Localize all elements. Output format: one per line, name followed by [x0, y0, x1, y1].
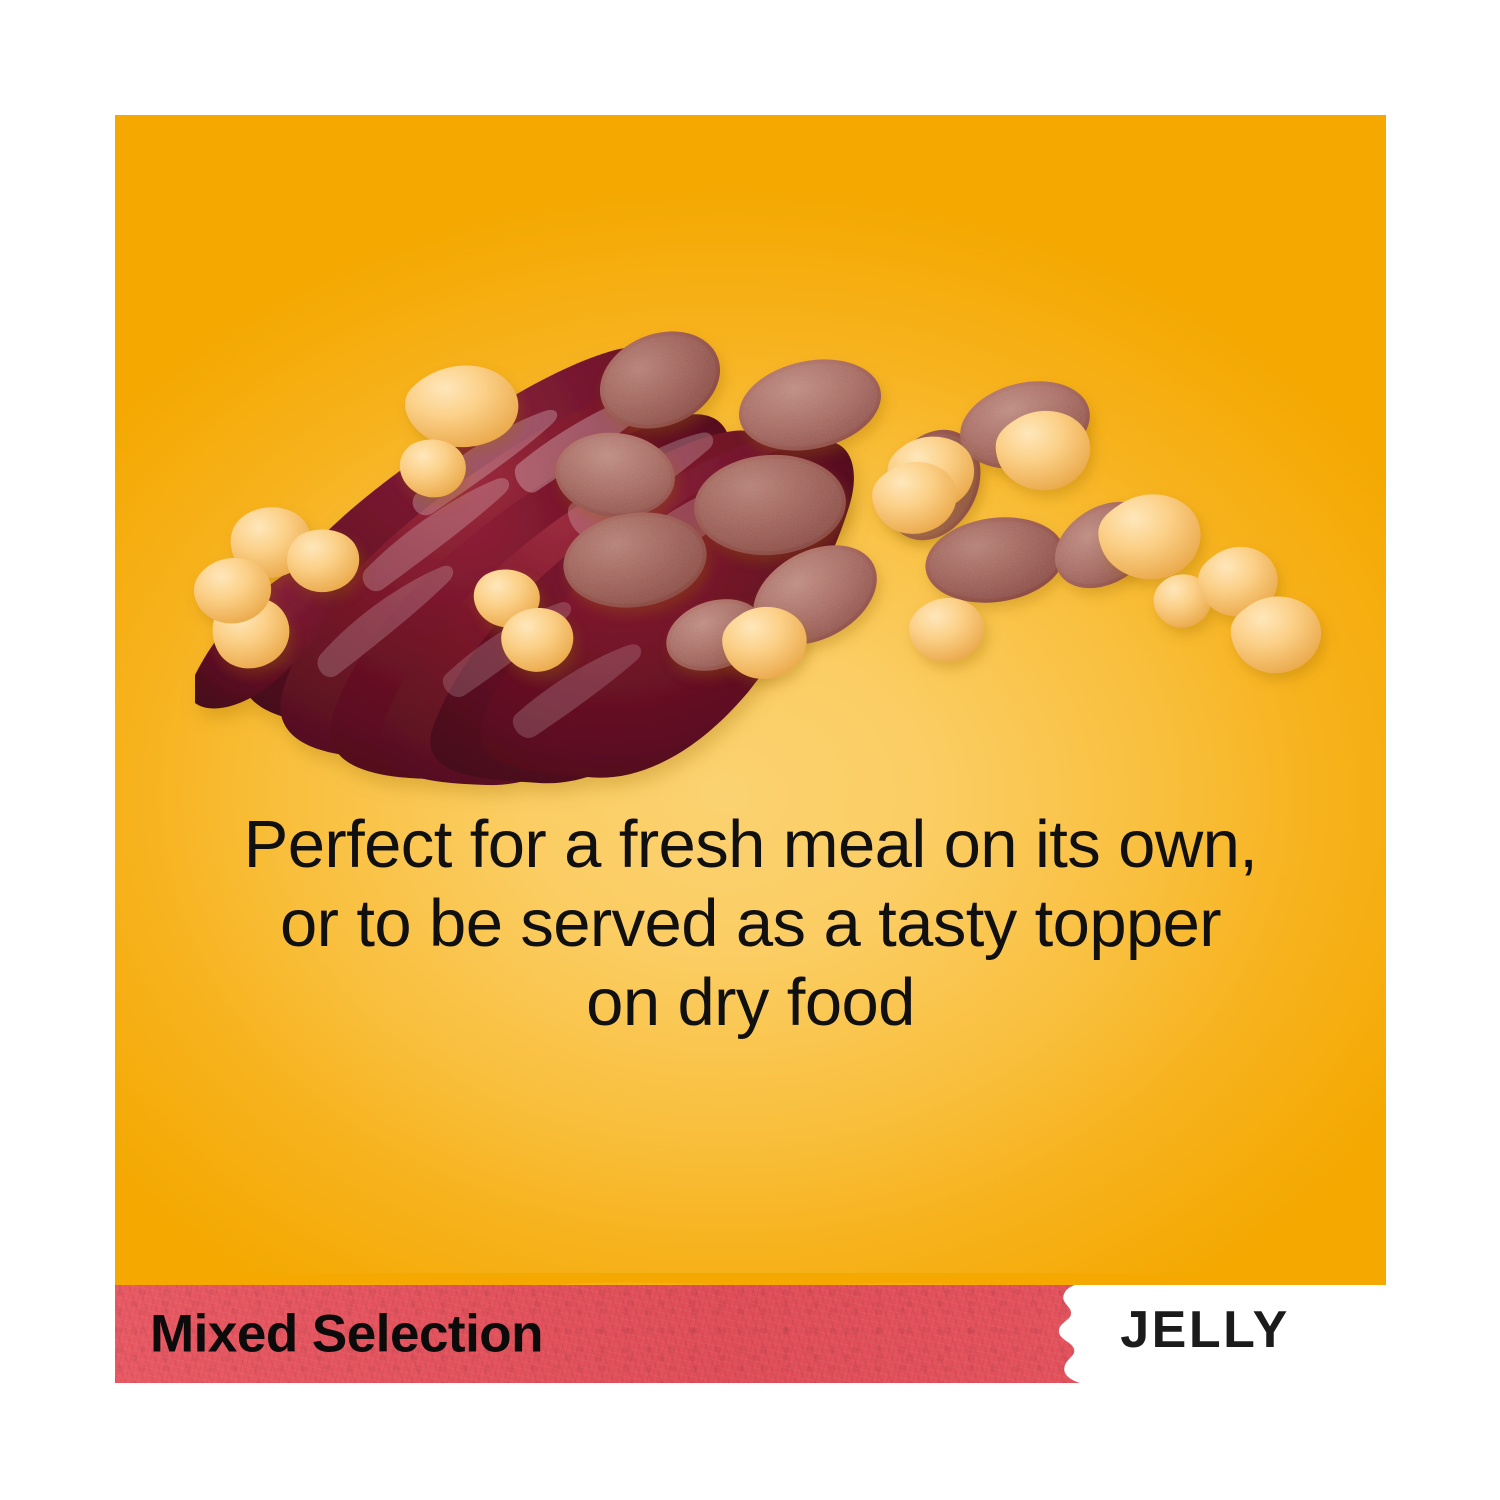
- headline-copy: Perfect for a fresh meal on its own, or …: [115, 805, 1386, 1042]
- texture-badge: JELLY: [1040, 1285, 1386, 1383]
- footer-band: Mixed Selection JELLY: [115, 1285, 1386, 1383]
- texture-badge-label: JELLY: [1040, 1300, 1370, 1360]
- variant-label: Mixed Selection: [150, 1304, 543, 1365]
- product-packshot: Perfect for a fresh meal on its own, or …: [115, 115, 1386, 1383]
- headline-line-2: or to be served as a tasty topper: [115, 884, 1386, 963]
- headline-line-3: on dry food: [115, 963, 1386, 1042]
- headline-line-1: Perfect for a fresh meal on its own,: [115, 805, 1386, 884]
- yellow-background-panel: [115, 115, 1386, 1287]
